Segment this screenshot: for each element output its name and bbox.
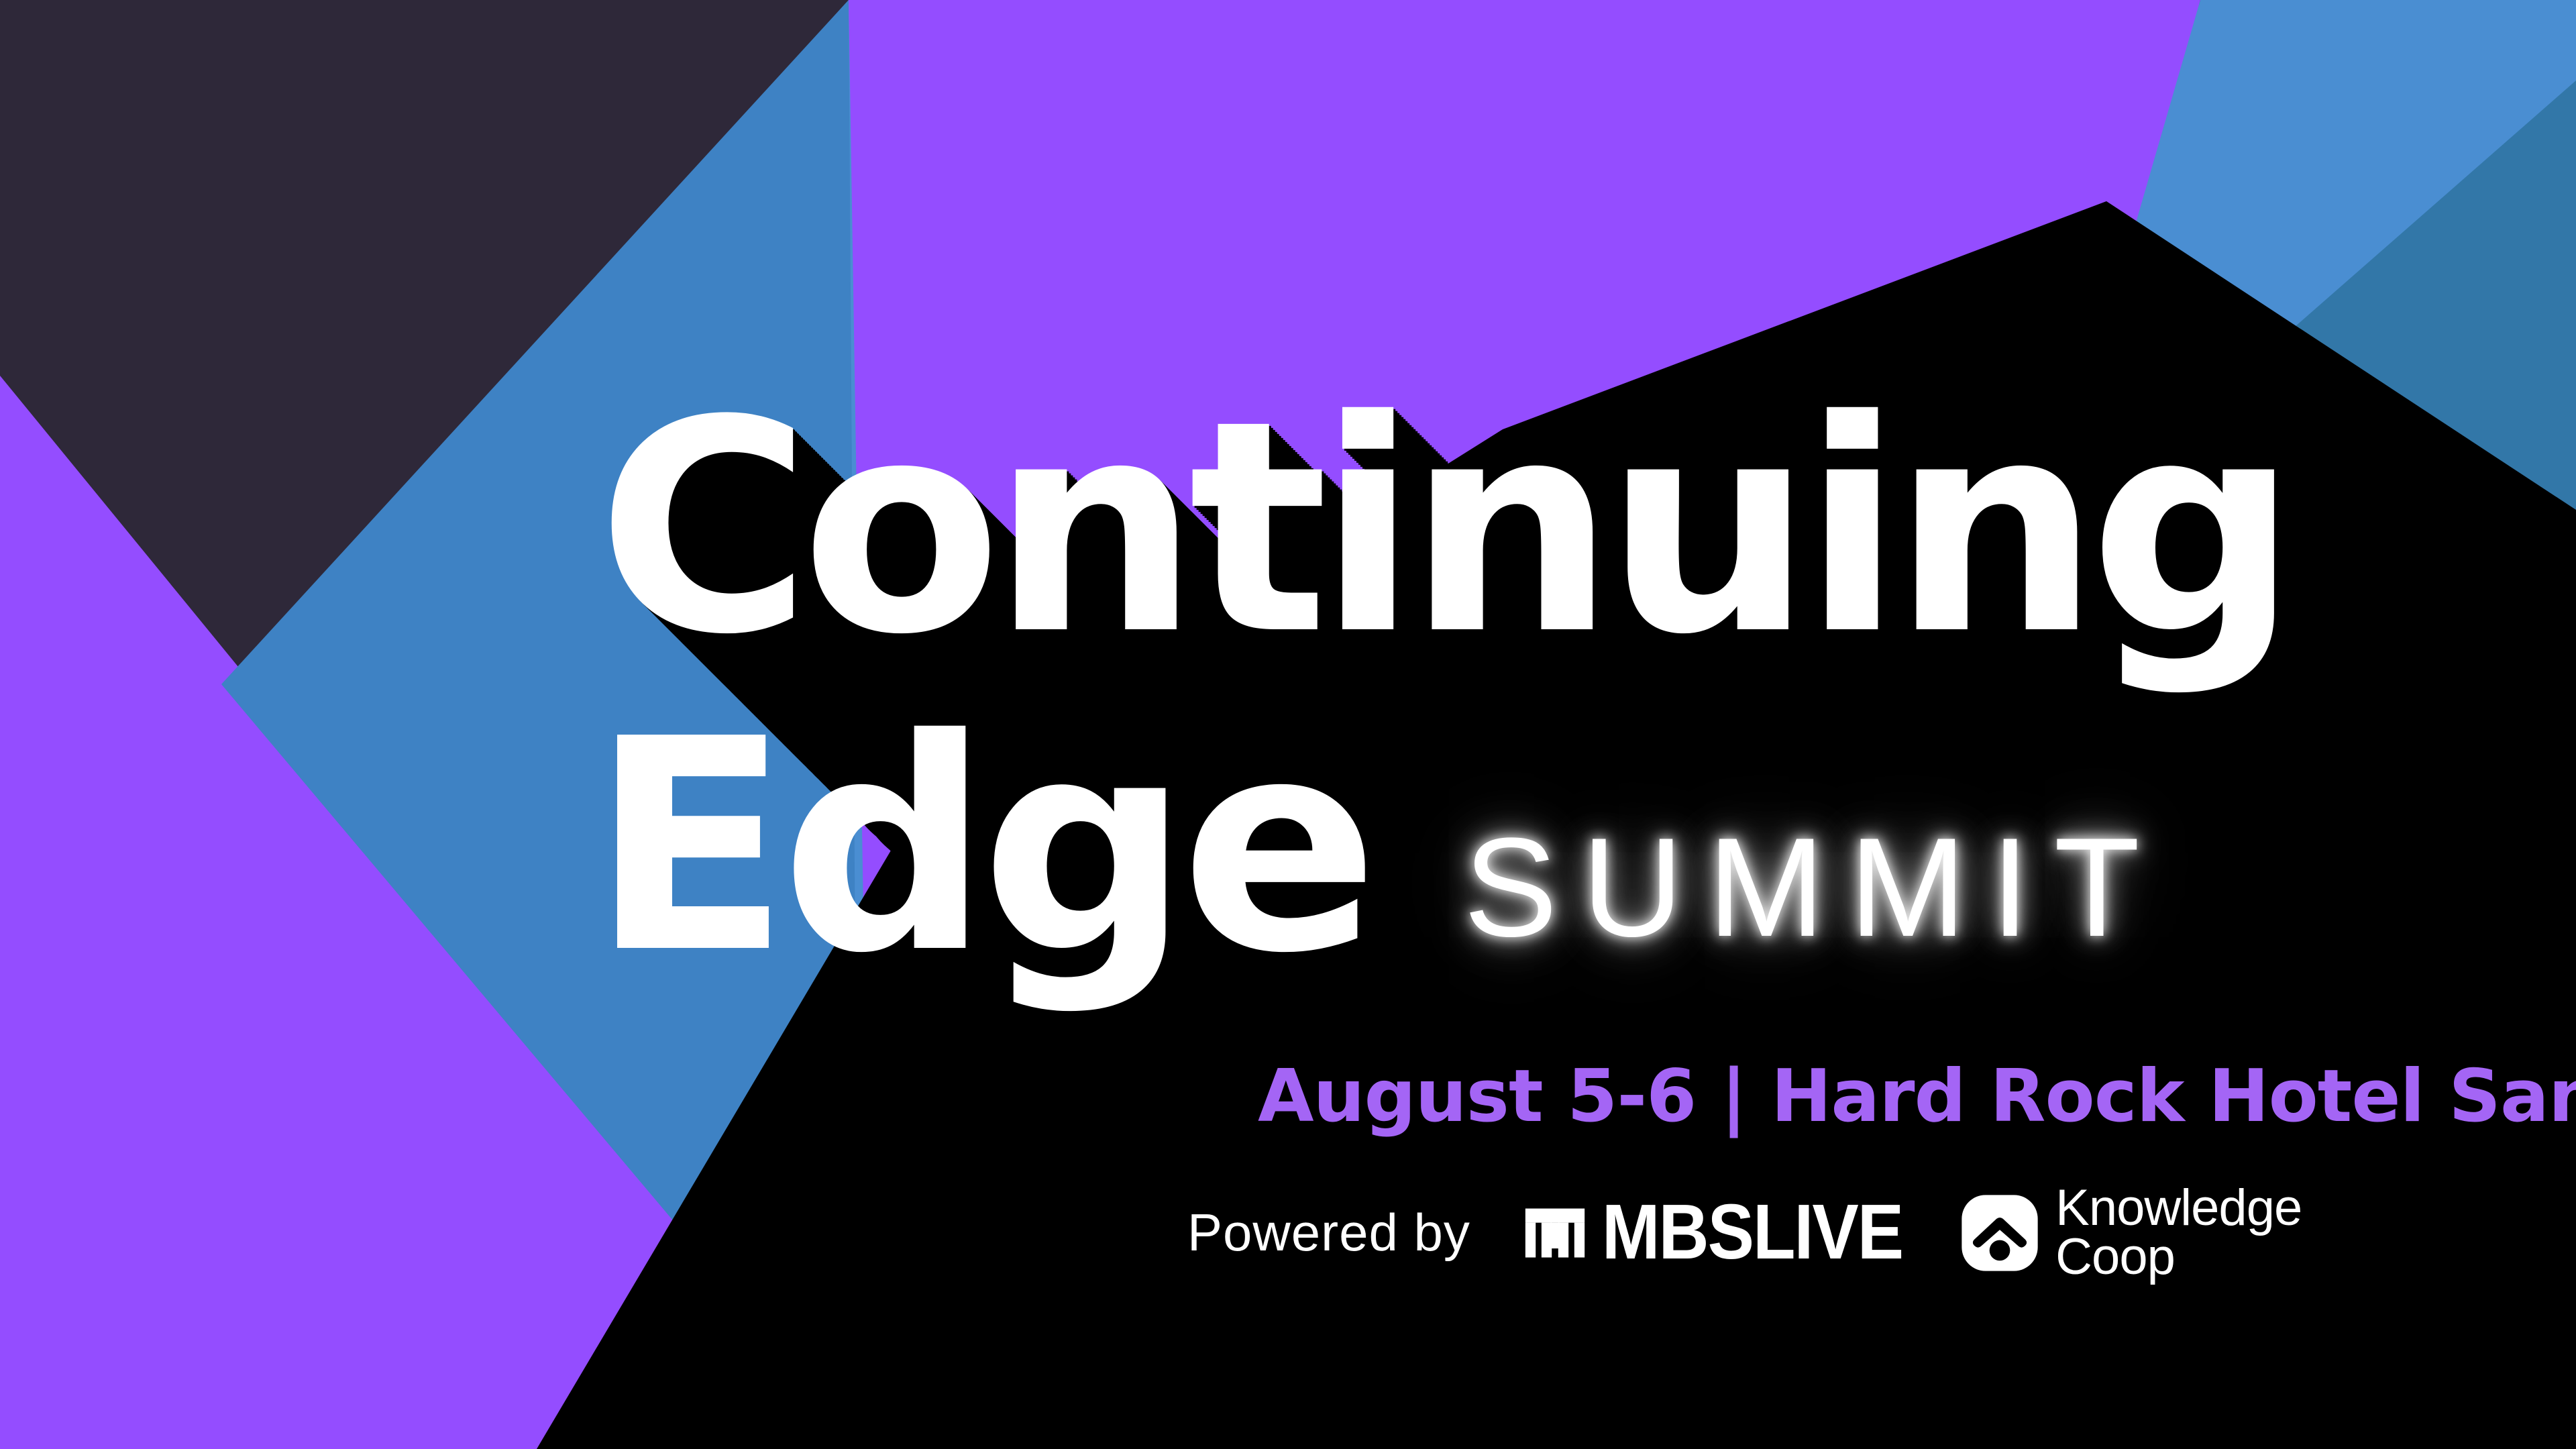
geometric-background [0,0,2576,1449]
poster-canvas: Continuing Edge SUMMIT August 5-6 | Hard… [0,0,2576,1449]
